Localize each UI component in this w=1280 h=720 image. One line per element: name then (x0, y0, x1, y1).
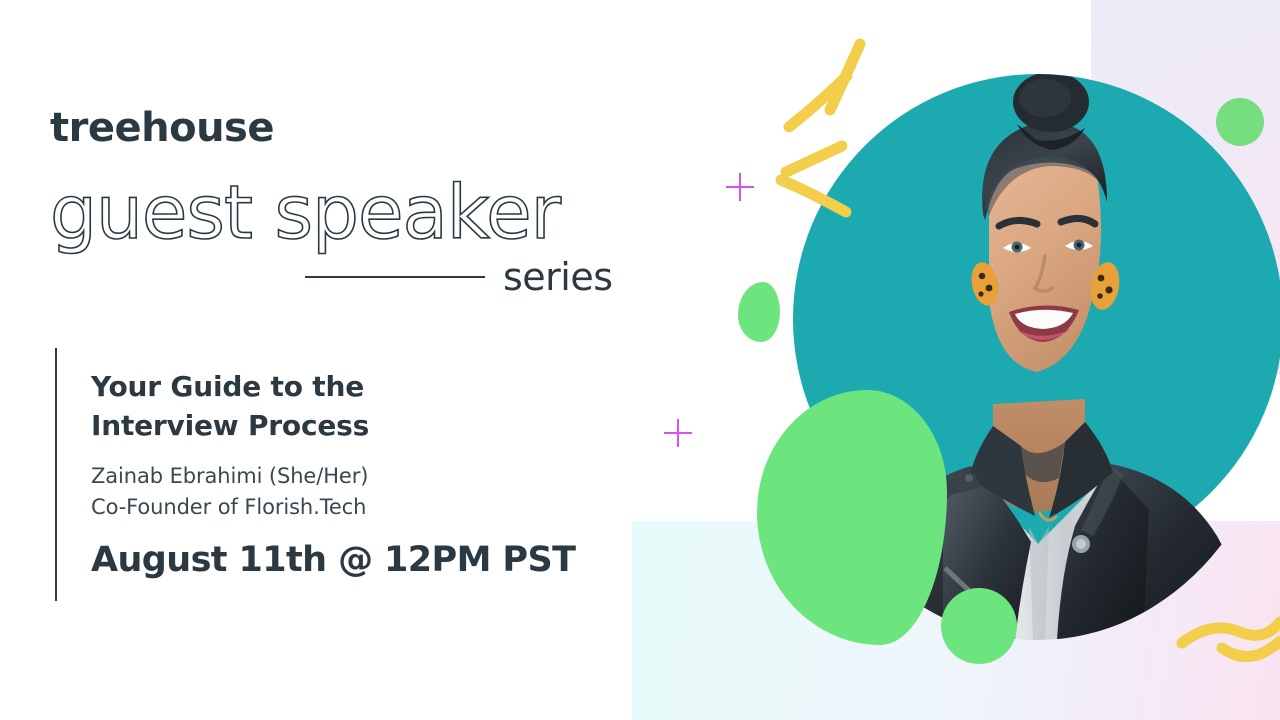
series-divider-rule (305, 276, 485, 278)
brand-name: treehouse (50, 108, 274, 148)
plus-mark-icon (726, 173, 754, 201)
event-info-block: Your Guide to the Interview Process Zain… (91, 368, 621, 578)
svg-text:guest speaker: guest speaker (50, 170, 562, 256)
series-label: series (503, 258, 613, 296)
talk-title-line1: Your Guide to the (91, 368, 621, 407)
talk-title-line2: Interview Process (91, 407, 621, 446)
green-circle-bottom-shape (941, 588, 1017, 664)
guest-speaker-promo-poster: treehouse guest speaker series Your Guid… (0, 0, 1280, 720)
speaker-name: Zainab Ebrahimi (She/Her) (91, 461, 621, 491)
green-blob-small-shape (738, 282, 780, 342)
series-row: series (305, 253, 645, 301)
plus-mark-icon (664, 419, 692, 447)
event-datetime: August 11th @ 12PM PST (91, 543, 621, 578)
headline-outline-text: guest speaker (44, 160, 644, 265)
vertical-accent-rule (55, 348, 57, 601)
speaker-role: Co-Founder of Florish.Tech (91, 492, 621, 522)
